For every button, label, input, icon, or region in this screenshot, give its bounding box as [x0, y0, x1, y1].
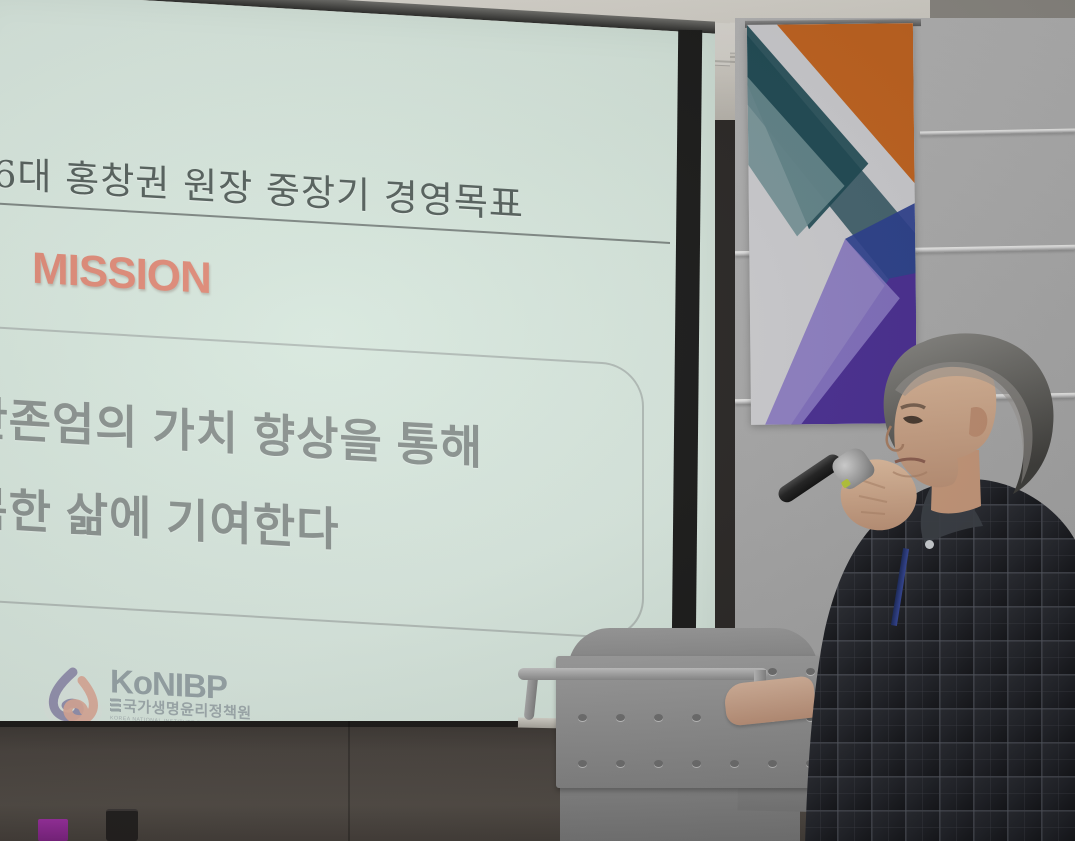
lectern-rail-left [524, 674, 539, 721]
microphone [780, 446, 878, 544]
slide-title: 의 제6대 홍창권 원장 중장기 경영목표 [0, 138, 670, 243]
microphone-head-icon [829, 444, 878, 492]
purple-object [38, 819, 68, 841]
dark-object [106, 809, 138, 841]
presentation-photo-scene: 의 제6대 홍창권 원장 중장기 경영목표 MISSION 인간존엄의 가치 향… [0, 0, 1075, 841]
slide-section-label: MISSION [32, 244, 211, 304]
konibp-badge-icon [110, 698, 121, 713]
konibp-logo-mark-icon [42, 662, 104, 730]
lectern-rail [518, 668, 768, 680]
floor-joint [348, 721, 350, 841]
speaker-lapel-pin [925, 540, 934, 549]
